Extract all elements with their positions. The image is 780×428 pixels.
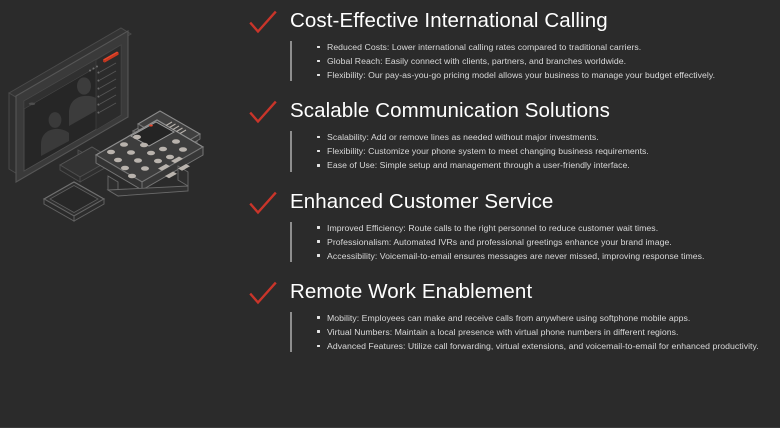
vertical-rule (290, 312, 292, 352)
benefit-section-2: Scalable Communication Solutions Scalabi… (242, 98, 774, 172)
check-icon (248, 10, 278, 36)
list-item: Scalability: Add or remove lines as need… (314, 130, 774, 144)
list-item: Global Reach: Easily connect with client… (314, 54, 774, 68)
list-item: Virtual Numbers: Maintain a local presen… (314, 325, 774, 339)
benefit-section-4: Remote Work Enablement Mobility: Employe… (242, 279, 774, 353)
list-item: Accessibility: Voicemail-to-email ensure… (314, 249, 774, 263)
section-heading: Scalable Communication Solutions (290, 98, 774, 123)
list-item: Flexibility: Our pay-as-you-go pricing m… (314, 68, 774, 82)
list-item: Professionalism: Automated IVRs and prof… (314, 235, 774, 249)
phone-status-led (149, 125, 153, 127)
check-icon (248, 191, 278, 217)
bullet-block: Mobility: Employees can make and receive… (290, 311, 774, 353)
benefit-section-1: Cost-Effective International Calling Red… (242, 8, 774, 82)
isometric-devices-svg (0, 0, 238, 240)
bullet-list: Mobility: Employees can make and receive… (314, 311, 774, 353)
list-item: Mobility: Employees can make and receive… (314, 311, 774, 325)
bullet-block: Reduced Costs: Lower international calli… (290, 40, 774, 82)
list-item: Flexibility: Customize your phone system… (314, 144, 774, 158)
bullet-block: Scalability: Add or remove lines as need… (290, 130, 774, 172)
vertical-rule (290, 131, 292, 171)
voip-workspace-illustration (0, 0, 238, 240)
section-heading: Remote Work Enablement (290, 279, 774, 304)
check-icon (248, 281, 278, 307)
benefit-section-3: Enhanced Customer Service Improved Effic… (242, 189, 774, 263)
list-item: Reduced Costs: Lower international calli… (314, 40, 774, 54)
vertical-rule (290, 222, 292, 262)
slide-root: Cost-Effective International Calling Red… (0, 0, 780, 428)
section-heading: Cost-Effective International Calling (290, 8, 774, 33)
check-icon (248, 100, 278, 126)
smartphone (44, 182, 104, 221)
list-item: Advanced Features: Utilize call forwardi… (314, 339, 774, 353)
benefits-list: Cost-Effective International Calling Red… (238, 0, 780, 428)
bullet-block: Improved Efficiency: Route calls to the … (290, 221, 774, 263)
section-heading: Enhanced Customer Service (290, 189, 774, 214)
bullet-list: Improved Efficiency: Route calls to the … (314, 221, 774, 263)
list-item: Ease of Use: Simple setup and management… (314, 158, 774, 172)
vertical-rule (290, 41, 292, 81)
bullet-list: Reduced Costs: Lower international calli… (314, 40, 774, 82)
list-item: Improved Efficiency: Route calls to the … (314, 221, 774, 235)
bullet-list: Scalability: Add or remove lines as need… (314, 130, 774, 172)
